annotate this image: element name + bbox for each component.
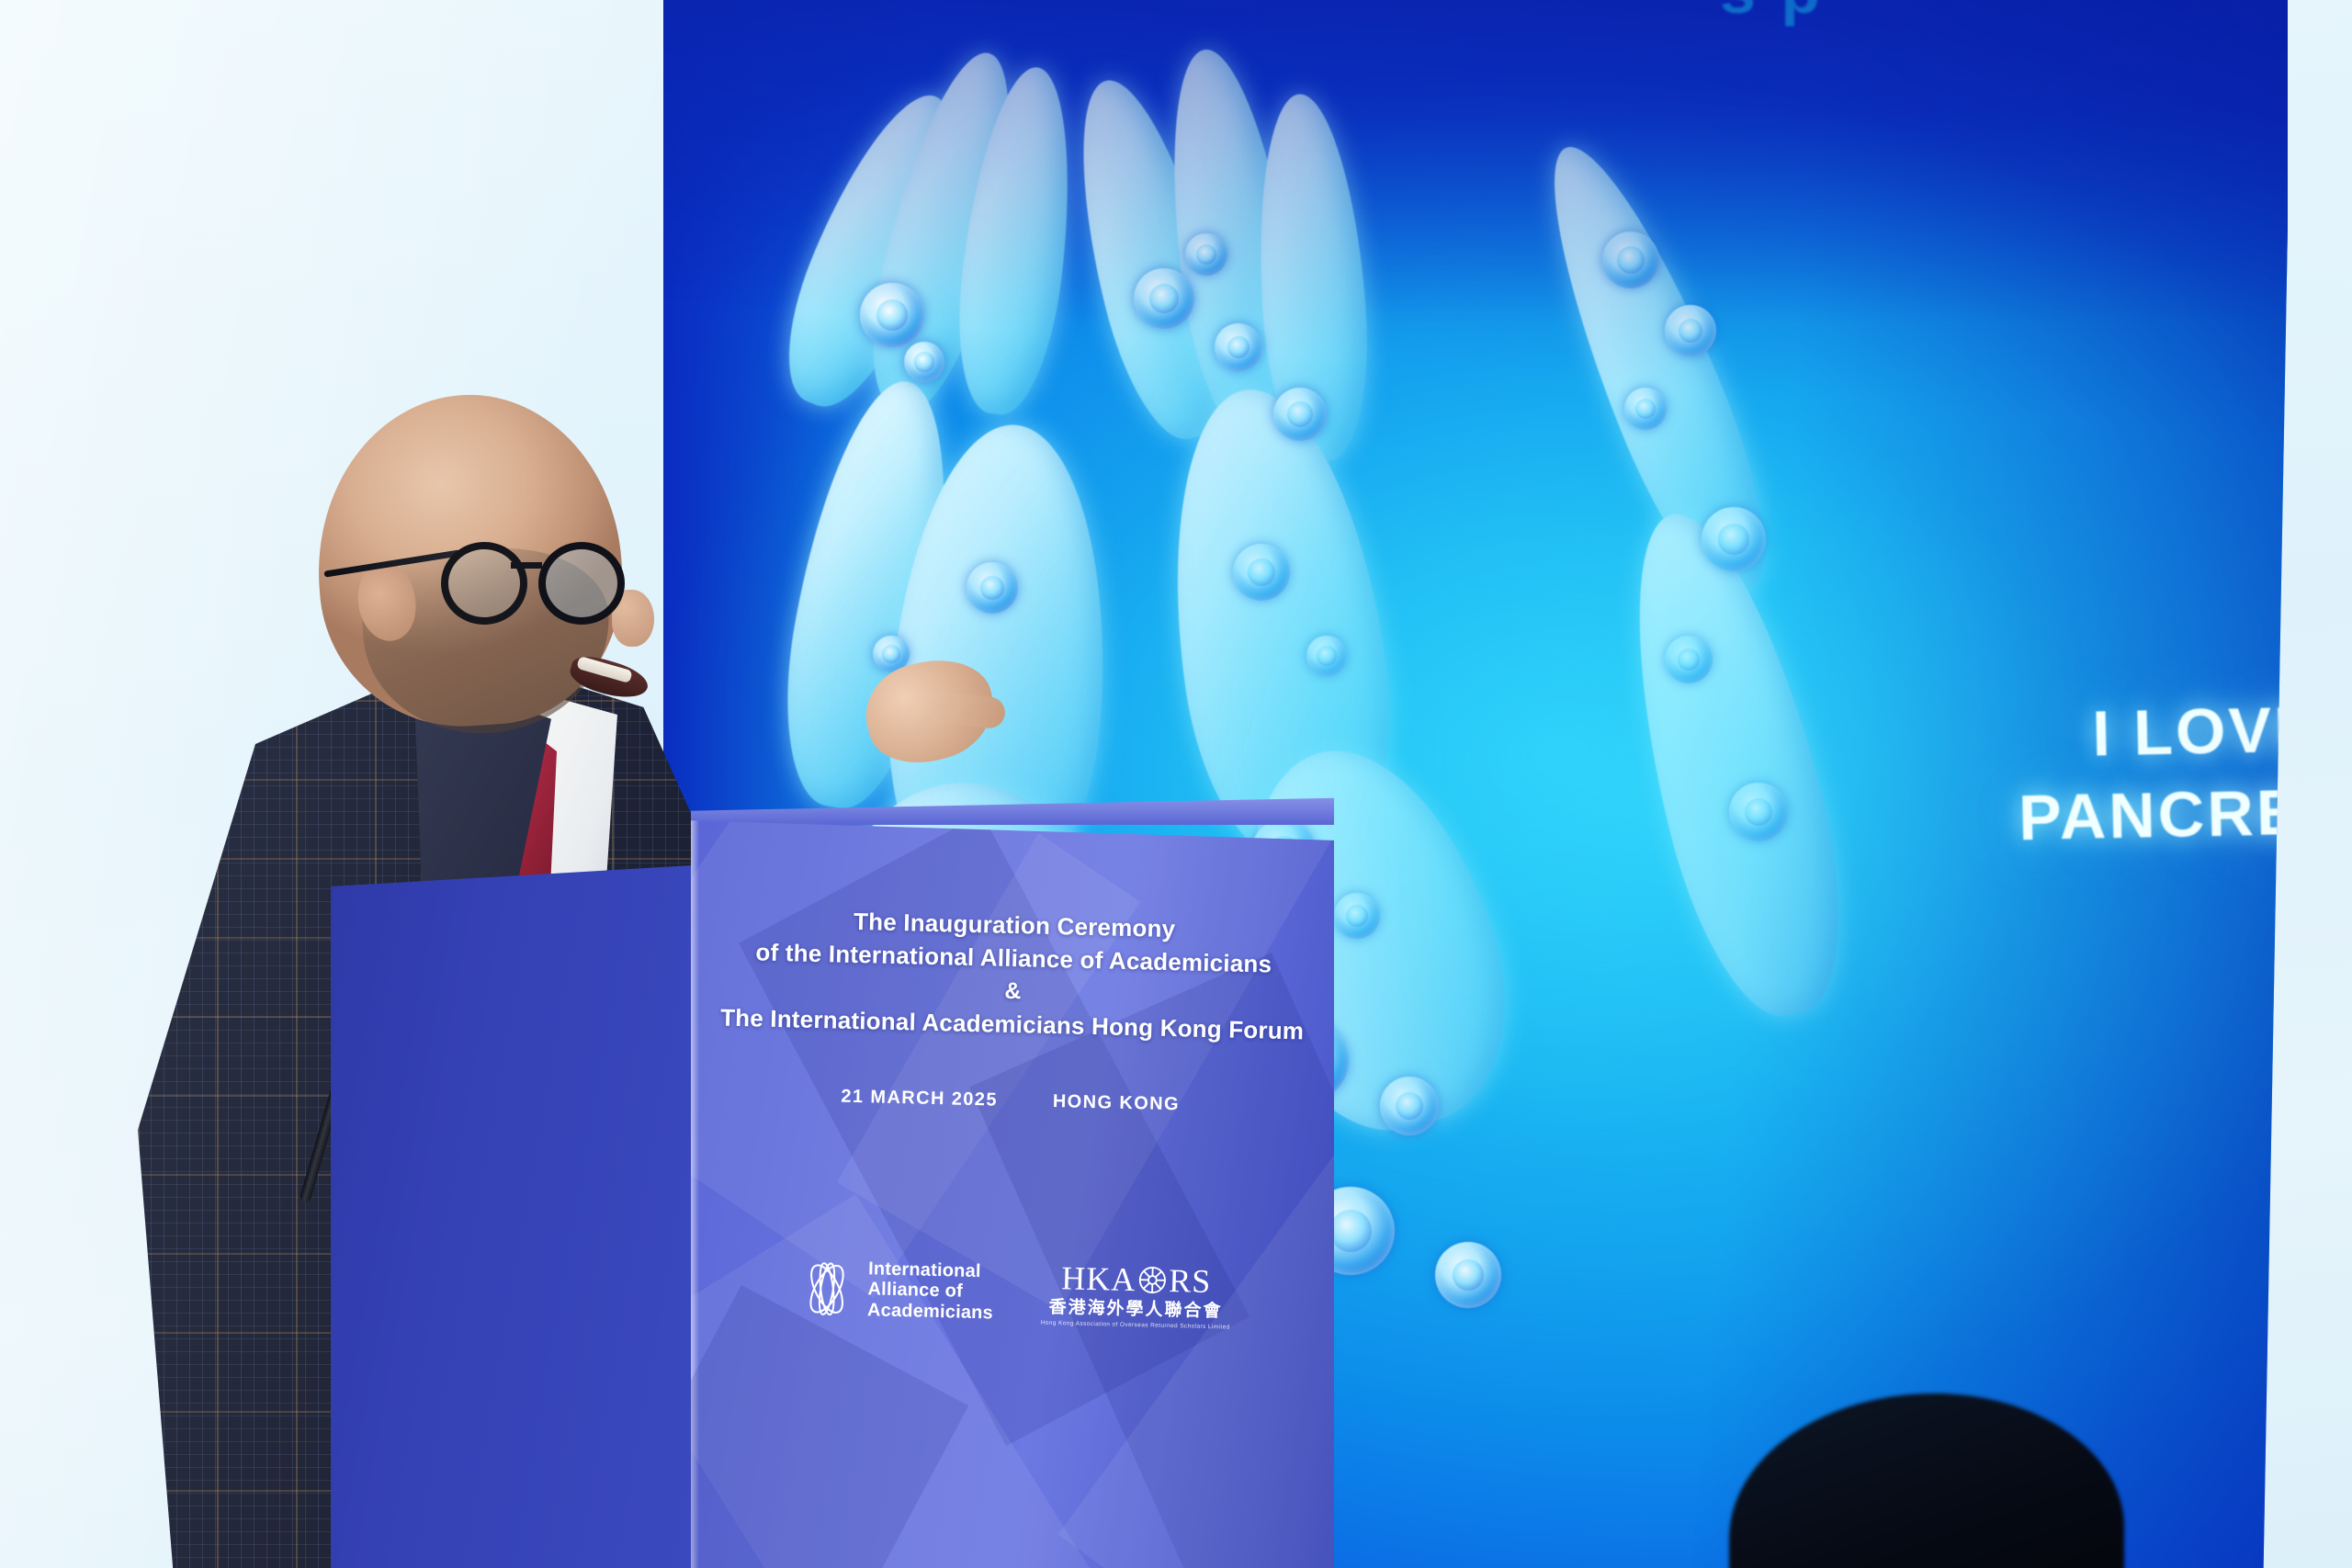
hkaors-initials: HKA RS	[1041, 1261, 1231, 1299]
ceremony-date: 21 MARCH 2025	[841, 1087, 998, 1111]
speaker-eyeglasses	[441, 533, 643, 615]
slide-caption: I LOVE PANCREAS	[1911, 684, 2288, 862]
lectern: The Inauguration Ceremony of the Interna…	[331, 808, 1332, 1568]
iaa-word-line-2: Alliance of	[867, 1280, 993, 1303]
eyeglass-lens-left	[441, 542, 527, 625]
ceremony-city: HONG KONG	[1053, 1091, 1181, 1115]
eyeglass-lens-right	[538, 542, 625, 625]
conference-photo-scene: s p	[0, 0, 2352, 1568]
hkaors-chinese-name: 香港海外學人聯合會	[1041, 1299, 1230, 1321]
logo-hkaors: HKA RS 香港海外學人聯合會 Hong Kong Association o…	[1041, 1261, 1232, 1331]
hkaors-initials-left: HKA	[1061, 1261, 1136, 1296]
lectern-side-panel	[331, 865, 694, 1568]
slide-caption-line-2: PANCREAS	[1913, 767, 2288, 862]
slide-caption-line-1: I LOVE	[1911, 684, 2288, 779]
lectern-logo-row: International Alliance of Academicians H…	[719, 1253, 1309, 1333]
hkaors-initials-right: RS	[1169, 1264, 1212, 1298]
iaa-word-line-1: International	[868, 1258, 994, 1282]
lectern-signage: The Inauguration Ceremony of the Interna…	[707, 904, 1318, 1118]
eyeglass-bridge	[511, 562, 542, 569]
flower-star-o-icon	[1136, 1264, 1169, 1296]
interlocking-loops-globe-icon	[797, 1259, 855, 1317]
iaa-word-line-3: Academicians	[867, 1300, 993, 1324]
iaa-logo-wordmark: International Alliance of Academicians	[867, 1258, 994, 1325]
logo-international-alliance-of-academicians: International Alliance of Academicians	[797, 1257, 994, 1324]
